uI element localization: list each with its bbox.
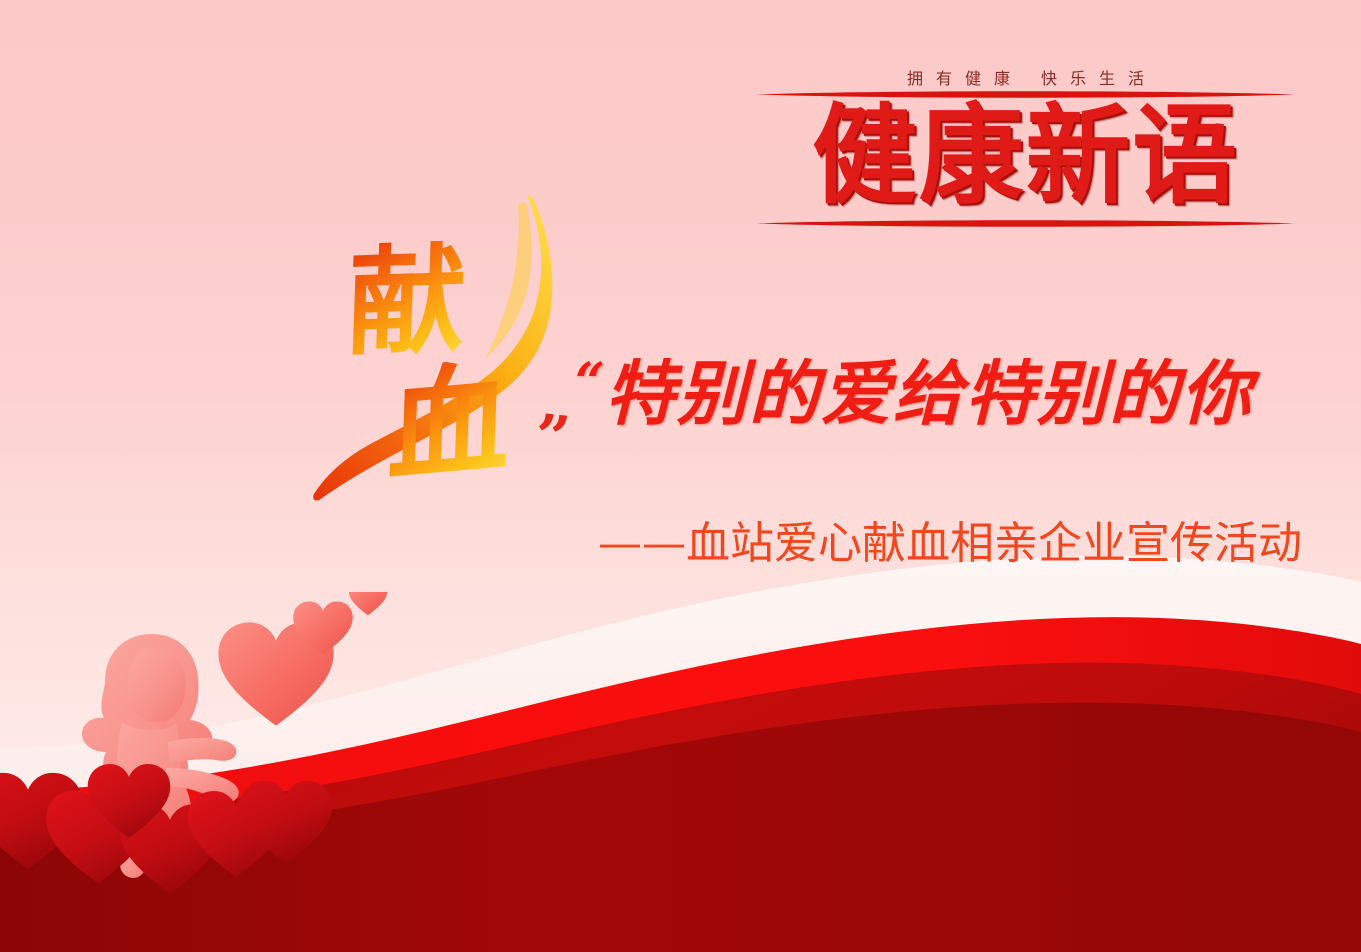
wave-bright-red-band (0, 617, 1361, 952)
heart-cluster (0, 764, 332, 894)
blood-donation-calligraphy: 献 血 ” (300, 190, 600, 520)
held-heart-icon (218, 622, 333, 725)
bottom-left-artwork (0, 592, 480, 952)
main-slogan: “特别的爱给特别的你 (575, 335, 1275, 435)
floating-heart-small (349, 592, 387, 615)
masthead-title: 健康新语 (765, 98, 1286, 214)
wave-dark-red-band (0, 663, 1361, 952)
wave-white-band (0, 556, 1361, 952)
calligraphy-char-xue: 血 (386, 356, 512, 489)
event-subtitle: ——血站爱心献血相亲企业宣传活动 (598, 515, 1298, 573)
floating-heart-medium (293, 601, 353, 654)
girl-silhouette (82, 634, 239, 880)
slogan-text: 特别的爱给特别的你 (605, 352, 1253, 435)
background-wave-artwork (0, 552, 1361, 952)
poster-root: 拥有健康 快乐生活 健康新语 献 (0, 0, 1361, 952)
masthead: 拥有健康 快乐生活 健康新语 (757, 60, 1294, 240)
masthead-rule-bottom (757, 219, 1294, 228)
masthead-tagline: 拥有健康 快乐生活 (757, 70, 1294, 88)
slogan-opening-quote: “ (575, 352, 605, 413)
wave-deep-red-band (0, 703, 1361, 952)
calligraphy-char-xian: 献 (346, 240, 468, 362)
calligraphy-closing-quote: ” (532, 406, 573, 469)
